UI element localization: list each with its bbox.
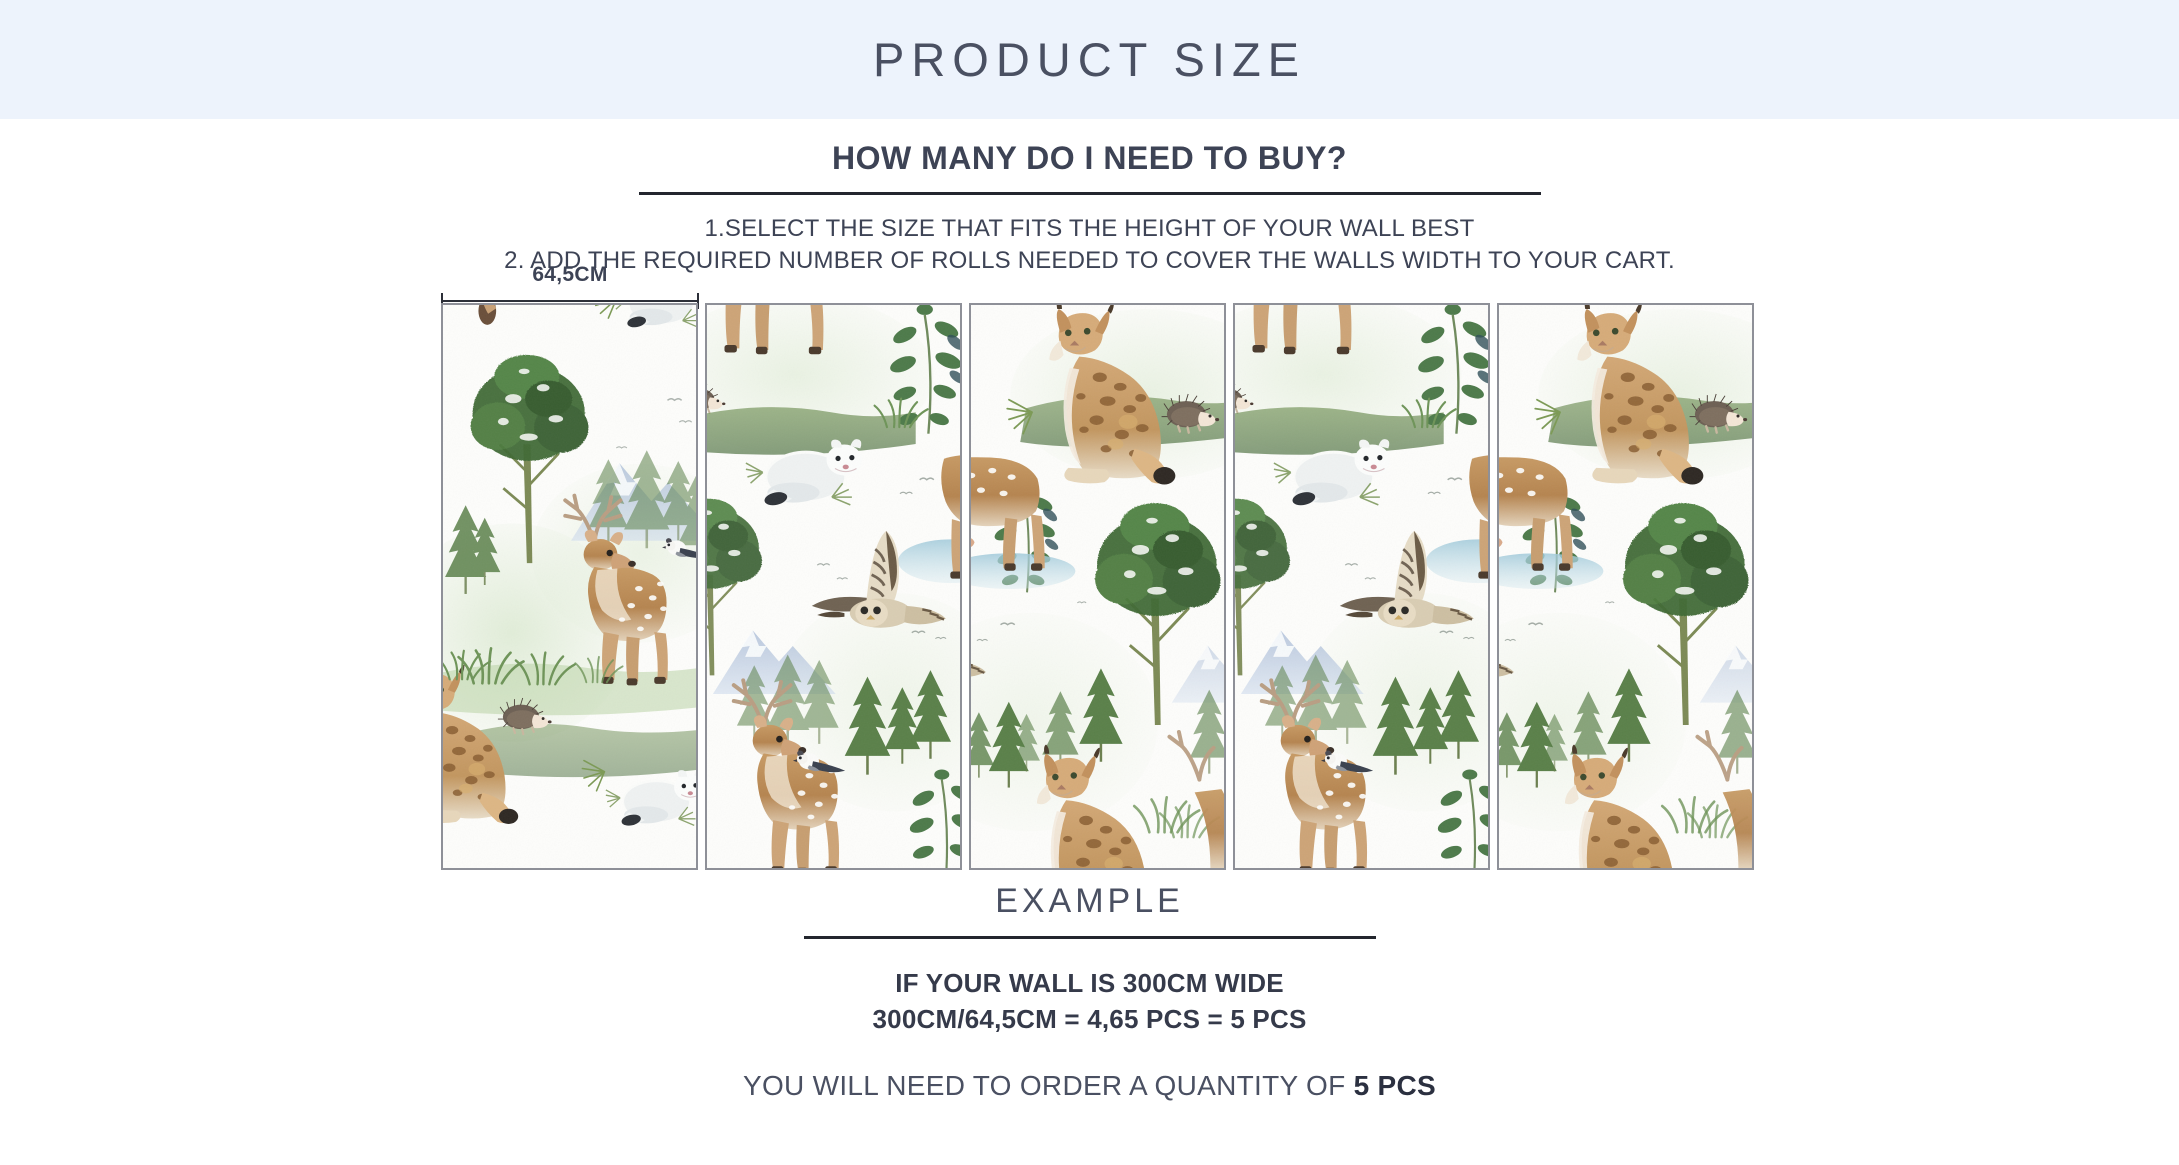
wallpaper-panel-1[interactable] [441,303,698,870]
instructions-section: HOW MANY DO I NEED TO BUY? 1.SELECT THE … [0,119,2179,276]
heading-divider [639,192,1541,195]
wallpaper-panel-4[interactable] [1233,303,1490,870]
page-title: PRODUCT SIZE [873,32,1306,87]
wallpaper-panel-5[interactable] [1497,303,1754,870]
order-quantity-prefix: YOU WILL NEED TO ORDER A QUANTITY OF [743,1070,1354,1101]
measure-label: 64,5CM [441,263,699,287]
example-section: EXAMPLE IF YOUR WALL IS 300CM WIDE 300CM… [0,882,2179,1102]
example-line-1: IF YOUR WALL IS 300CM WIDE [0,966,2179,1002]
order-quantity-value: 5 PCS [1354,1070,1436,1101]
wallpaper-panel-2[interactable] [705,303,962,870]
example-title: EXAMPLE [0,882,2179,921]
example-calculation: IF YOUR WALL IS 300CM WIDE 300CM/64,5CM … [0,966,2179,1038]
example-order-quantity: YOU WILL NEED TO ORDER A QUANTITY OF 5 P… [0,1070,2179,1102]
wallpaper-panel-3[interactable] [969,303,1226,870]
instruction-steps: 1.SELECT THE SIZE THAT FITS THE HEIGHT O… [0,213,2179,276]
instructions-heading: HOW MANY DO I NEED TO BUY? [0,140,2179,177]
instruction-step-1: 1.SELECT THE SIZE THAT FITS THE HEIGHT O… [0,213,2179,245]
wallpaper-roll-strip [441,303,1754,870]
measure-line [441,300,699,302]
example-line-2: 300CM/64,5CM = 4,65 PCS = 5 PCS [0,1002,2179,1038]
instruction-step-2: 2. ADD THE REQUIRED NUMBER OF ROLLS NEED… [0,245,2179,277]
product-size-header: PRODUCT SIZE [0,0,2179,119]
example-divider [804,936,1376,939]
